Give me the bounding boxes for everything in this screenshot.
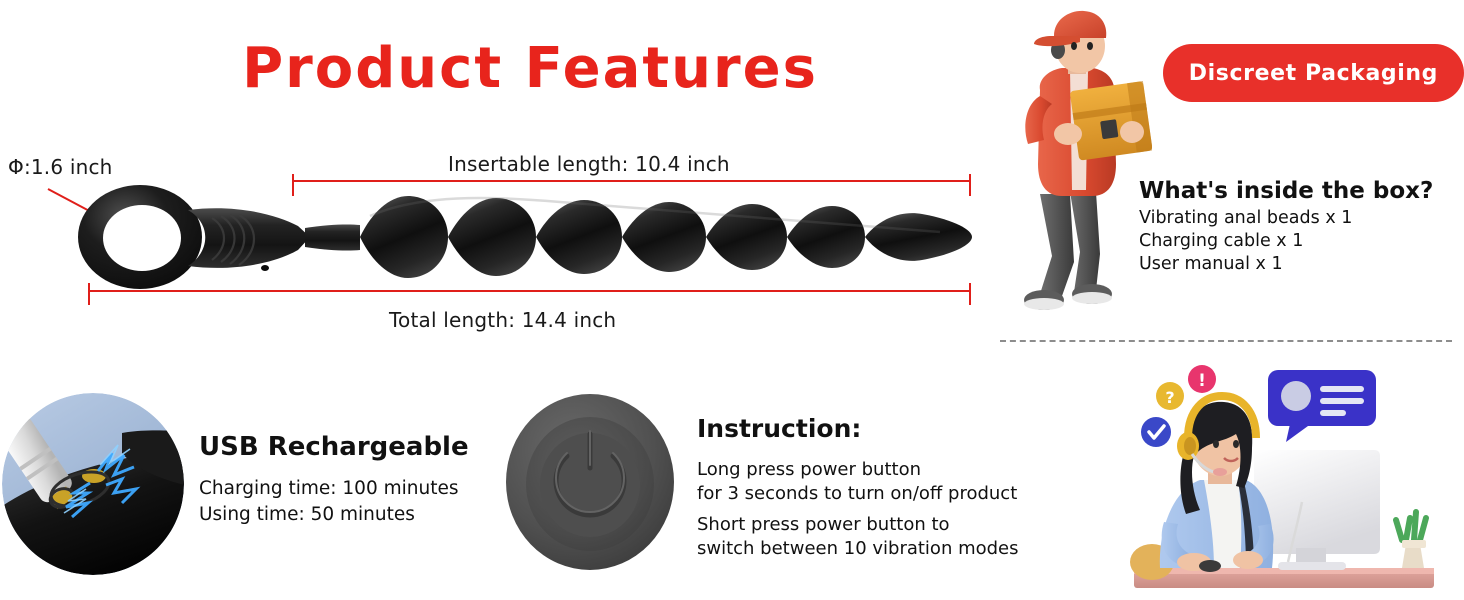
total-tick-right xyxy=(969,283,971,305)
insertable-length-label: Insertable length: 10.4 inch xyxy=(448,152,730,176)
svg-text:?: ? xyxy=(1165,388,1174,407)
check-badge xyxy=(1141,417,1171,447)
power-button-illustration xyxy=(505,392,675,572)
page-title: Product Features xyxy=(200,36,860,101)
usb-rechargeable-heading: USB Rechargeable xyxy=(199,432,469,462)
infographic-canvas: Product Features Φ:1.6 inch Insertable l… xyxy=(0,0,1464,600)
question-badge: ? xyxy=(1156,382,1184,410)
instruction-line: Short press power button to xyxy=(697,513,1019,537)
svg-text:!: ! xyxy=(1198,371,1206,391)
instruction-long-press: Long press power button for 3 seconds to… xyxy=(697,458,1017,506)
instruction-line: Long press power button xyxy=(697,458,1017,482)
instruction-line: for 3 seconds to turn on/off product xyxy=(697,482,1017,506)
instruction-heading: Instruction: xyxy=(697,414,861,443)
customer-support-illustration: ! ? xyxy=(1120,362,1464,600)
product-diagram: Φ:1.6 inch Insertable length: 10.4 inch xyxy=(0,150,1000,340)
list-item: Using time: 50 minutes xyxy=(199,502,458,528)
box-contents-heading: What's inside the box? xyxy=(1139,178,1433,204)
total-dimension-line xyxy=(88,290,971,292)
instruction-short-press: Short press power button to switch betwe… xyxy=(697,513,1019,561)
delivery-person-illustration xyxy=(1000,4,1152,324)
chat-bubble xyxy=(1268,370,1376,442)
total-tick-left xyxy=(88,283,90,305)
list-item: Vibrating anal beads x 1 xyxy=(1139,207,1352,230)
discreet-packaging-badge: Discreet Packaging xyxy=(1163,44,1464,102)
diameter-label: Φ:1.6 inch xyxy=(8,155,113,179)
list-item: Charging cable x 1 xyxy=(1139,230,1352,253)
list-item: Charging time: 100 minutes xyxy=(199,476,458,502)
list-item: User manual x 1 xyxy=(1139,253,1352,276)
section-divider xyxy=(1000,340,1452,342)
product-illustration xyxy=(60,180,990,300)
box-contents-list: Vibrating anal beads x 1 Charging cable … xyxy=(1139,207,1352,276)
instruction-line: switch between 10 vibration modes xyxy=(697,537,1019,561)
usb-specs-list: Charging time: 100 minutes Using time: 5… xyxy=(199,476,458,528)
usb-charging-photo xyxy=(2,393,184,575)
total-length-label: Total length: 14.4 inch xyxy=(389,308,616,332)
exclamation-badge: ! xyxy=(1188,365,1216,393)
